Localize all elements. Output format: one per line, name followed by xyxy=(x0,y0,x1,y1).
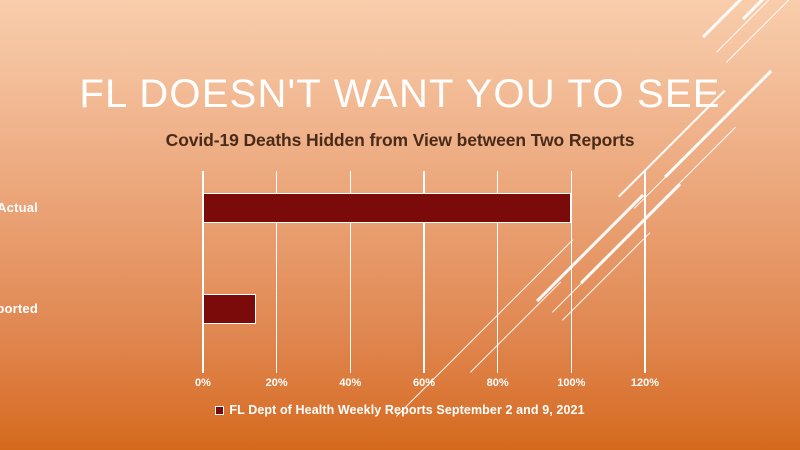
x-axis-tick-label: 100% xyxy=(541,377,601,389)
slide-canvas: 0%20%40%60%80%100%120%2448 Actual353 Rep… xyxy=(0,0,800,450)
x-axis-tick-label: 80% xyxy=(468,377,528,389)
x-axis-tick-label: 120% xyxy=(615,377,675,389)
chart-subtitle: Covid-19 Deaths Hidden from View between… xyxy=(0,131,800,150)
x-axis-tick-label: 60% xyxy=(394,377,454,389)
bar-category-label: 2448 Actual xyxy=(0,200,38,215)
chart-plot-area: 0%20%40%60%80%100%120%2448 Actual353 Rep… xyxy=(203,171,645,373)
bar-chart: 0%20%40%60%80%100%120%2448 Actual353 Rep… xyxy=(0,0,800,450)
x-axis-tick-label: 0% xyxy=(173,377,233,389)
page-title: FL DOESN'T WANT YOU TO SEE xyxy=(0,74,800,114)
bar-category-label: 353 Reported xyxy=(0,301,38,316)
bar xyxy=(203,294,256,324)
x-axis-tick-label: 40% xyxy=(320,377,380,389)
x-axis-tick-label: 20% xyxy=(247,377,307,389)
gridline xyxy=(644,171,646,373)
legend-label: FL Dept of Health Weekly Reports Septemb… xyxy=(229,403,584,417)
legend-swatch-icon xyxy=(215,406,224,415)
chart-legend: FL Dept of Health Weekly Reports Septemb… xyxy=(0,403,800,417)
bar xyxy=(203,193,571,223)
